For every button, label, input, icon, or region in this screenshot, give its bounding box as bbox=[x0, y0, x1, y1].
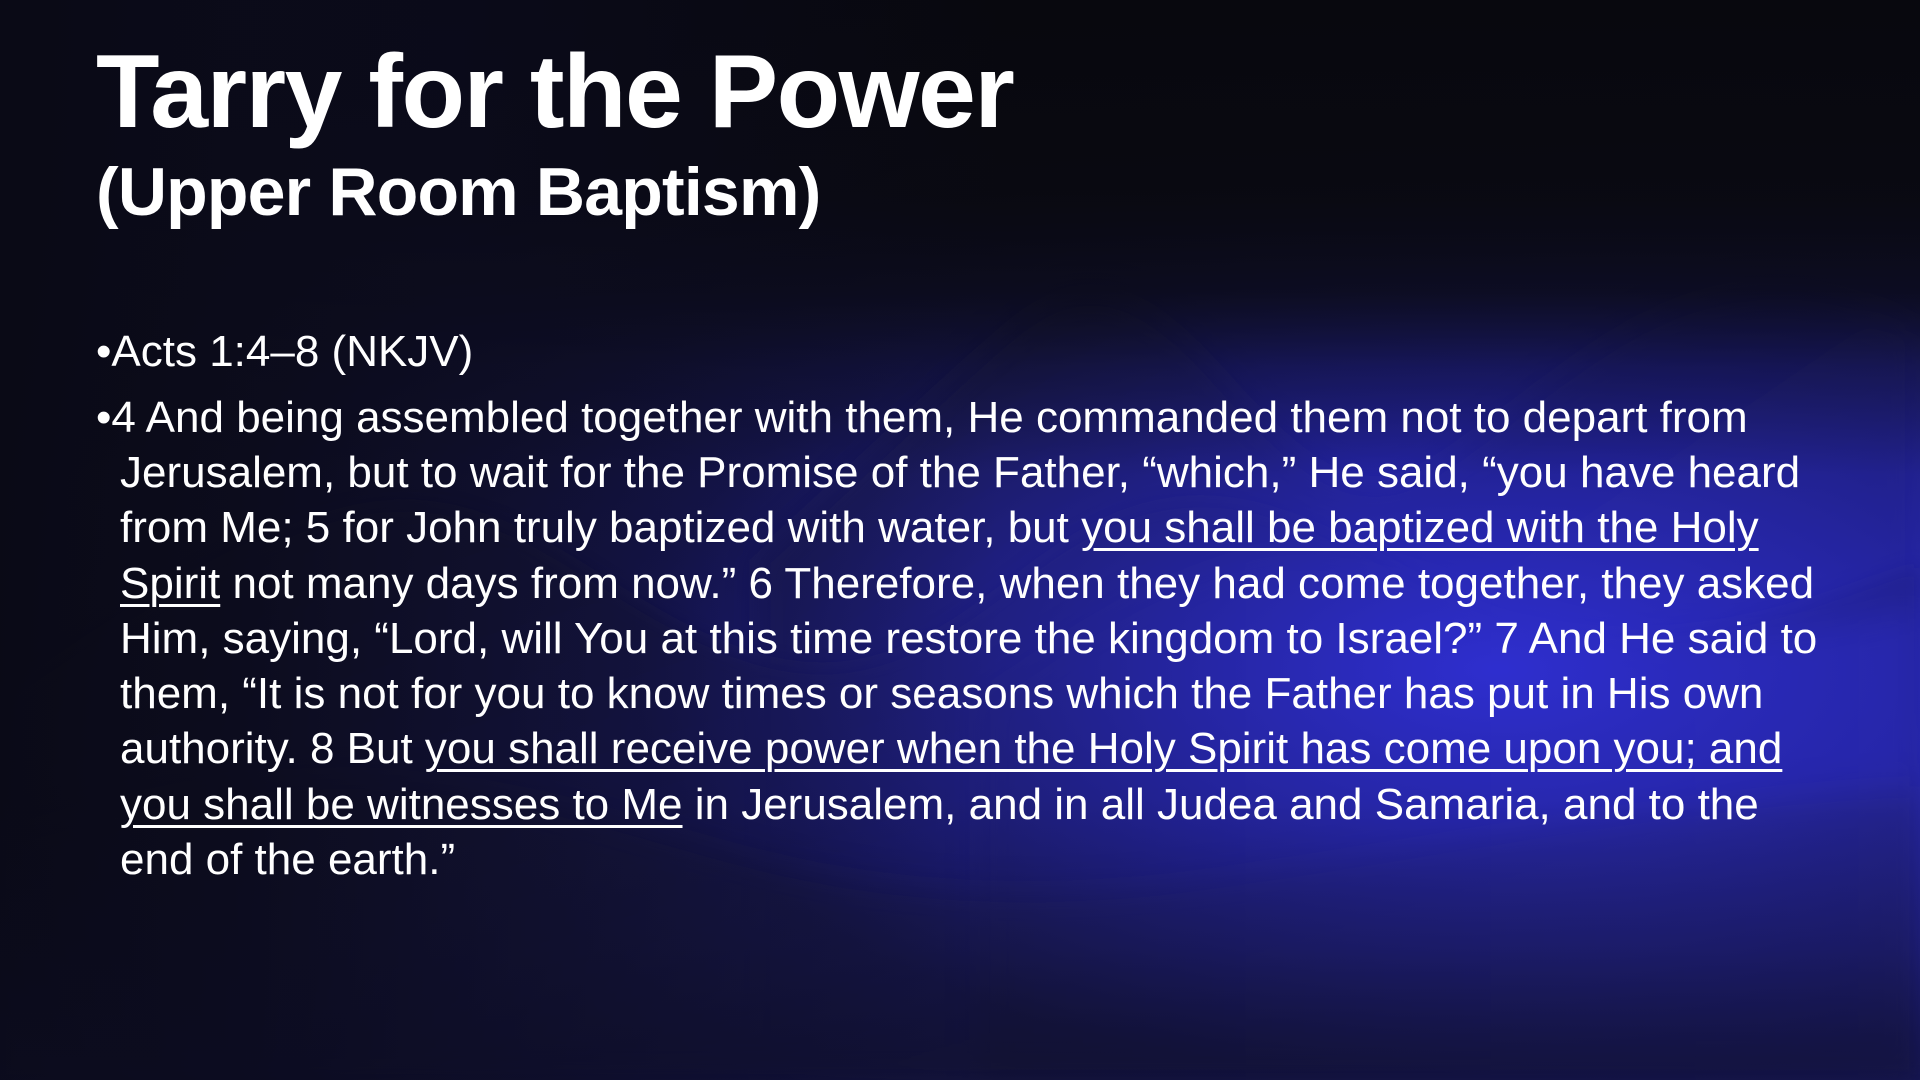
list-item-scripture-passage: •4 And being assembled together with the… bbox=[96, 390, 1826, 887]
slide-content: Tarry for the Power (Upper Room Baptism)… bbox=[0, 0, 1920, 1080]
page-title: Tarry for the Power bbox=[96, 38, 1796, 146]
bullet-marker-icon: • bbox=[96, 393, 111, 442]
title-block: Tarry for the Power (Upper Room Baptism) bbox=[96, 38, 1796, 230]
scripture-reference-text: Acts 1:4–8 (NKJV) bbox=[111, 327, 473, 376]
bullet-marker-icon: • bbox=[96, 327, 111, 376]
presentation-slide: Tarry for the Power (Upper Room Baptism)… bbox=[0, 0, 1920, 1080]
page-subtitle: (Upper Room Baptism) bbox=[96, 156, 1796, 229]
body-block: •Acts 1:4–8 (NKJV) •4 And being assemble… bbox=[96, 330, 1826, 887]
list-item-scripture-reference: •Acts 1:4–8 (NKJV) bbox=[96, 330, 1826, 374]
